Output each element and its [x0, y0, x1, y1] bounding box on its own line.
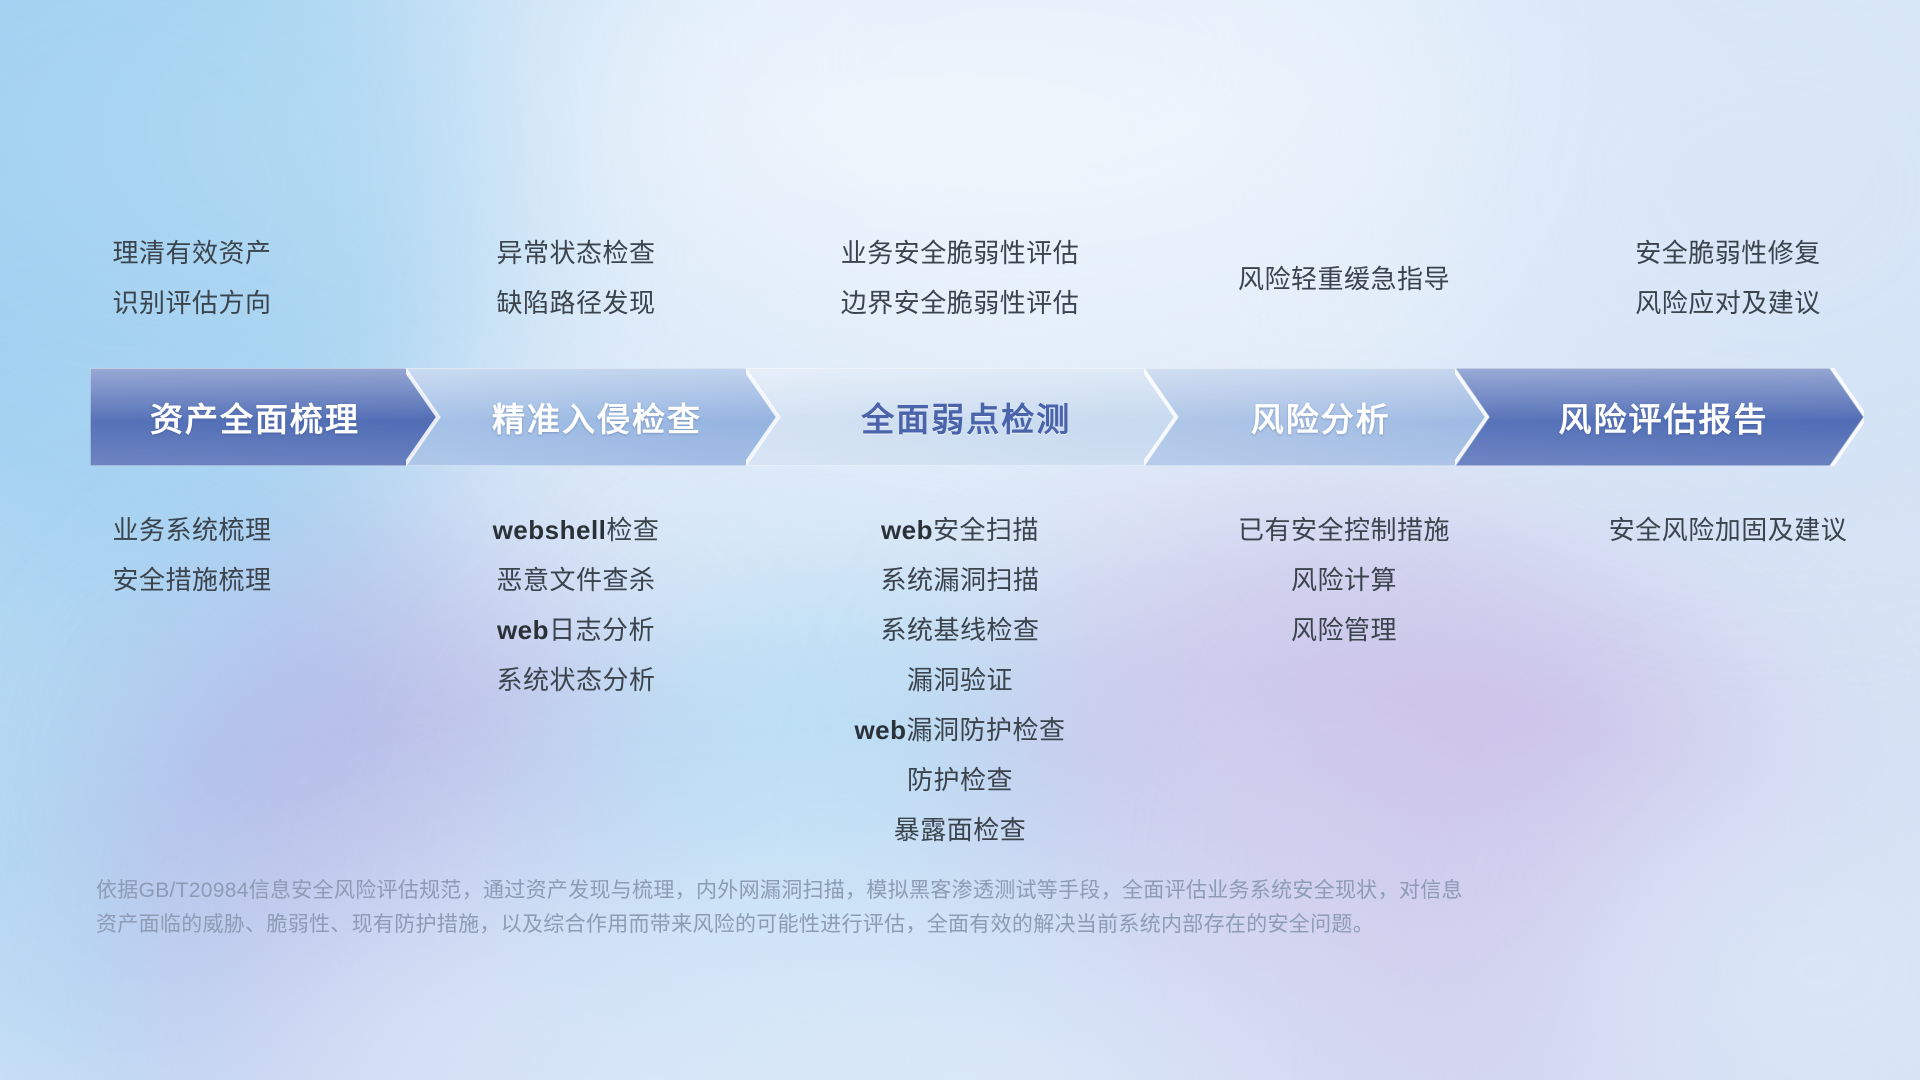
detail-item: 暴露面检查	[894, 805, 1027, 855]
footnote-line-1: 依据GB/T20984信息安全风险评估规范，通过资产发现与梳理，内外网漏洞扫描，…	[96, 874, 1776, 908]
detail-column-intrusion-check: webshell检查恶意文件查杀web日志分析系统状态分析	[384, 505, 768, 705]
detail-item: 系统状态分析	[496, 655, 655, 705]
detail-item: 安全风险加固及建议	[1609, 505, 1848, 555]
detail-column-weakness-detection: web安全扫描系统漏洞扫描系统基线检查漏洞验证web漏洞防护检查防护检查暴露面检…	[768, 505, 1152, 855]
footnote-line-2: 资产面临的威胁、脆弱性、现有防护措施，以及综合作用而带来风险的可能性进行评估，全…	[96, 908, 1776, 942]
detail-item: 风险计算	[1291, 555, 1397, 605]
chevron-label: 资产全面梳理	[150, 393, 360, 441]
detail-item-text: 安全扫描	[933, 515, 1039, 545]
detail-item: 已有安全控制措施	[1238, 505, 1450, 555]
top-caption-item: 识别评估方向	[112, 278, 271, 328]
detail-item-lead: web	[497, 615, 549, 645]
detail-item: 系统基线检查	[880, 605, 1039, 655]
detail-item-text: 检查	[606, 515, 659, 545]
detail-item-text: 防护检查	[907, 765, 1013, 795]
top-caption-column-intrusion-check: 异常状态检查缺陷路径发现	[384, 228, 768, 348]
detail-item: web漏洞防护检查	[854, 705, 1065, 755]
detail-item: 风险管理	[1291, 605, 1397, 655]
detail-item-text: 暴露面检查	[894, 815, 1027, 845]
detail-item-lead: webshell	[493, 515, 607, 545]
top-caption-item: 边界安全脆弱性评估	[841, 278, 1080, 328]
chevron-label: 风险分析	[1251, 393, 1391, 441]
top-caption-column-weakness-detection: 业务安全脆弱性评估边界安全脆弱性评估	[768, 228, 1152, 348]
top-caption-column-risk-analysis: 风险轻重缓急指导	[1152, 228, 1536, 348]
detail-item: 漏洞验证	[907, 655, 1013, 705]
detail-item-lead: web	[854, 715, 906, 745]
top-caption-item: 风险应对及建议	[1635, 278, 1821, 328]
detail-item-text: 业务系统梳理	[112, 515, 271, 545]
chevron-label: 风险评估报告	[1559, 393, 1769, 441]
chevron-stage-risk-analysis[interactable]: 风险分析	[1144, 368, 1489, 466]
top-caption-item: 安全脆弱性修复	[1635, 228, 1821, 278]
detail-item-text: 恶意文件查杀	[496, 565, 655, 595]
detail-item: 防护检查	[907, 755, 1013, 805]
detail-item: web安全扫描	[881, 505, 1039, 555]
chevron-stage-asset-review[interactable]: 资产全面梳理	[90, 368, 440, 466]
chevron-stage-intrusion-check[interactable]: 精准入侵检查	[406, 368, 780, 466]
detail-item: 业务系统梳理	[112, 505, 271, 555]
top-caption-item: 业务安全脆弱性评估	[841, 228, 1080, 278]
detail-item-text: 日志分析	[549, 615, 655, 645]
detail-item: 系统漏洞扫描	[880, 555, 1039, 605]
detail-item-text: 已有安全控制措施	[1238, 515, 1450, 545]
top-caption-item: 缺陷路径发现	[496, 278, 655, 328]
chevron-stage-weakness-detection[interactable]: 全面弱点检测	[746, 368, 1178, 466]
detail-item-text: 漏洞验证	[907, 665, 1013, 695]
detail-item: web日志分析	[497, 605, 655, 655]
detail-column-risk-report: 安全风险加固及建议	[1536, 505, 1920, 555]
chevron-label: 精准入侵检查	[492, 393, 702, 441]
chevron-label: 全面弱点检测	[861, 393, 1071, 441]
detail-item: webshell检查	[493, 505, 660, 555]
detail-item-text: 风险管理	[1291, 615, 1397, 645]
detail-item-text: 风险计算	[1291, 565, 1397, 595]
bottom-detail-row: 业务系统梳理安全措施梳理webshell检查恶意文件查杀web日志分析系统状态分…	[0, 505, 1920, 855]
top-caption-item: 理清有效资产	[112, 228, 271, 278]
detail-column-asset-review: 业务系统梳理安全措施梳理	[0, 505, 384, 605]
detail-item-text: 系统状态分析	[496, 665, 655, 695]
footnote-paragraph: 依据GB/T20984信息安全风险评估规范，通过资产发现与梳理，内外网漏洞扫描，…	[96, 874, 1776, 942]
detail-item-text: 安全风险加固及建议	[1609, 515, 1848, 545]
top-caption-column-risk-report: 安全脆弱性修复风险应对及建议	[1536, 228, 1920, 348]
detail-item-text: 安全措施梳理	[112, 565, 271, 595]
top-caption-row: 理清有效资产识别评估方向异常状态检查缺陷路径发现业务安全脆弱性评估边界安全脆弱性…	[0, 228, 1920, 348]
detail-item: 安全措施梳理	[112, 555, 271, 605]
chevron-stage-risk-report[interactable]: 风险评估报告	[1455, 368, 1864, 466]
process-chevron-banner: 资产全面梳理精准入侵检查全面弱点检测风险分析风险评估报告	[90, 368, 1830, 466]
slide-canvas: 理清有效资产识别评估方向异常状态检查缺陷路径发现业务安全脆弱性评估边界安全脆弱性…	[0, 0, 1920, 1080]
detail-item-text: 系统漏洞扫描	[880, 565, 1039, 595]
top-caption-column-asset-review: 理清有效资产识别评估方向	[0, 228, 384, 348]
detail-item-lead: web	[881, 515, 933, 545]
top-caption-item: 风险轻重缓急指导	[1238, 254, 1450, 304]
detail-item-text: 漏洞防护检查	[907, 715, 1066, 745]
detail-item-text: 系统基线检查	[880, 615, 1039, 645]
detail-item: 恶意文件查杀	[496, 555, 655, 605]
detail-column-risk-analysis: 已有安全控制措施风险计算风险管理	[1152, 505, 1536, 655]
top-caption-item: 异常状态检查	[496, 228, 655, 278]
